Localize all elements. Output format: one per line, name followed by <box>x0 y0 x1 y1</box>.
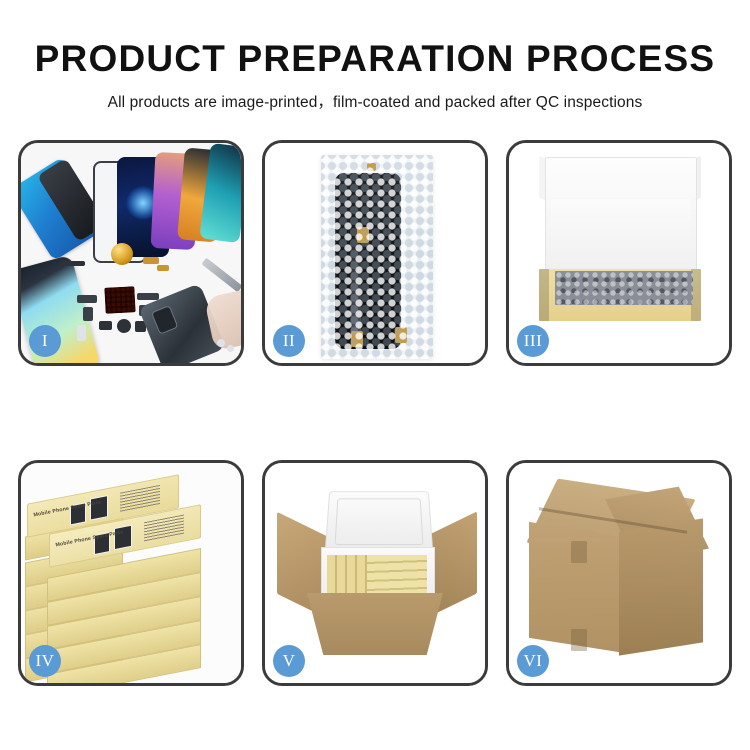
small-part <box>143 257 159 264</box>
tweezer-tool <box>201 258 241 293</box>
process-step-2: II <box>262 140 488 366</box>
screw <box>217 339 225 347</box>
carton-front <box>307 593 443 655</box>
step-badge-1: I <box>29 325 61 357</box>
foam-sheet <box>551 199 691 277</box>
page-title: PRODUCT PREPARATION PROCESS <box>0 40 750 77</box>
step-badge-6: VI <box>517 645 549 677</box>
process-step-1: I <box>18 140 244 366</box>
foam-lid <box>325 491 434 553</box>
small-part <box>157 265 169 271</box>
infographic-page: PRODUCT PREPARATION PROCESS All products… <box>0 0 750 750</box>
yellow-boxes-row-b <box>367 555 427 599</box>
process-grid: I II <box>18 140 732 686</box>
step-badge-5: V <box>273 645 305 677</box>
spec-lines <box>120 485 160 513</box>
small-part <box>61 261 85 266</box>
small-part <box>83 307 93 321</box>
process-step-6: VI <box>506 460 732 686</box>
small-part <box>77 325 86 341</box>
step-badge-2: II <box>273 325 305 357</box>
step-badge-4: IV <box>29 645 61 677</box>
process-step-5: V <box>262 460 488 686</box>
small-part <box>137 293 159 300</box>
step-badge-3: III <box>517 325 549 357</box>
bubble-texture-shadow <box>321 155 433 359</box>
small-part <box>99 321 112 330</box>
screw <box>227 345 234 352</box>
spec-lines <box>144 515 184 543</box>
gold-coil-part <box>111 243 133 265</box>
small-part <box>117 319 131 333</box>
bubble-bag <box>321 155 433 359</box>
process-step-4: Mobile Phone Spare Parts Mobile Phone Sp… <box>18 460 244 686</box>
carton-face-right <box>619 518 703 655</box>
carton-tape <box>571 541 587 563</box>
product-swatch <box>114 525 132 550</box>
small-part <box>77 295 97 303</box>
page-subtitle: All products are image-printed，film-coat… <box>0 90 750 112</box>
header: PRODUCT PREPARATION PROCESS All products… <box>0 0 750 112</box>
chip-grid-part <box>104 286 135 314</box>
process-step-3: III <box>506 140 732 366</box>
grey-bubble-contents <box>555 271 693 305</box>
carton-tape <box>571 629 587 651</box>
